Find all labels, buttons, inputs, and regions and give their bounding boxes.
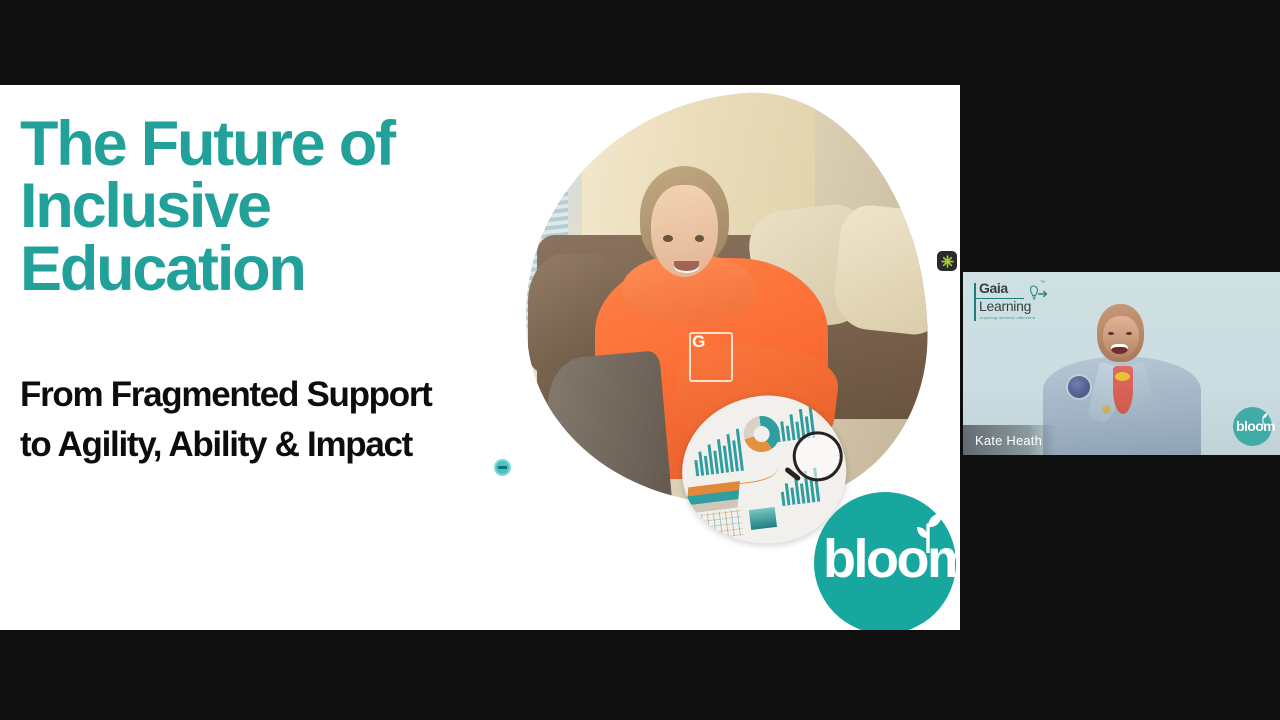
hoodie-logo — [689, 332, 733, 382]
logo-rule — [974, 283, 976, 321]
meeting-screen-share-view: The Future of Inclusive Education From F… — [0, 0, 1280, 720]
area-chart-graphic — [686, 481, 740, 514]
gaia-learning-logo: Gaia Learning inspiring inclusive educat… — [974, 281, 1046, 325]
speaker-lapel-pin — [1102, 405, 1111, 414]
student-smile — [674, 261, 699, 273]
laptop-screen — [544, 350, 674, 516]
gaia-logo-line1: Gaia — [979, 281, 1008, 296]
leaf-sprout-icon — [912, 511, 944, 553]
gradient-bar-graphic — [749, 507, 777, 530]
bloom-logo: bloom — [814, 492, 956, 630]
page-title: The Future of Inclusive Education — [20, 113, 520, 300]
sofa-cushion — [831, 203, 939, 338]
speaker-necklace — [1115, 372, 1130, 381]
speaker-smile — [1111, 344, 1128, 354]
speaker-shoulder-patch — [1068, 376, 1090, 398]
subtitle-block: From Fragmented Support to Agility, Abil… — [20, 370, 540, 471]
participant-video-tile[interactable]: Gaia Learning inspiring inclusive educat… — [963, 272, 1280, 455]
grid-chart-graphic — [701, 509, 744, 540]
trademark-symbol: ™ — [1040, 280, 1045, 286]
line-chart-graphic — [731, 460, 779, 484]
leaf-sprout-icon — [1258, 413, 1268, 425]
speaker-eye-right — [1126, 332, 1132, 335]
title-block: The Future of Inclusive Education — [20, 113, 520, 300]
teal-circle-arrow-icon — [494, 459, 511, 476]
participant-name: Kate Heath — [975, 433, 1042, 448]
reaction-sparkle-badge[interactable] — [937, 251, 957, 271]
speaker-eye-left — [1108, 332, 1114, 335]
green-asterisk-sparkle-icon — [941, 255, 954, 268]
presentation-slide: The Future of Inclusive Education From F… — [0, 85, 960, 630]
gaia-logo-tagline: inspiring inclusive education — [980, 315, 1035, 320]
lightbulb-arrow-icon — [1024, 283, 1048, 305]
slide-subtitle: From Fragmented Support to Agility, Abil… — [20, 370, 540, 471]
participant-name-label: Kate Heath — [963, 425, 1056, 455]
bloom-corner-logo: bloom — [1233, 407, 1272, 446]
